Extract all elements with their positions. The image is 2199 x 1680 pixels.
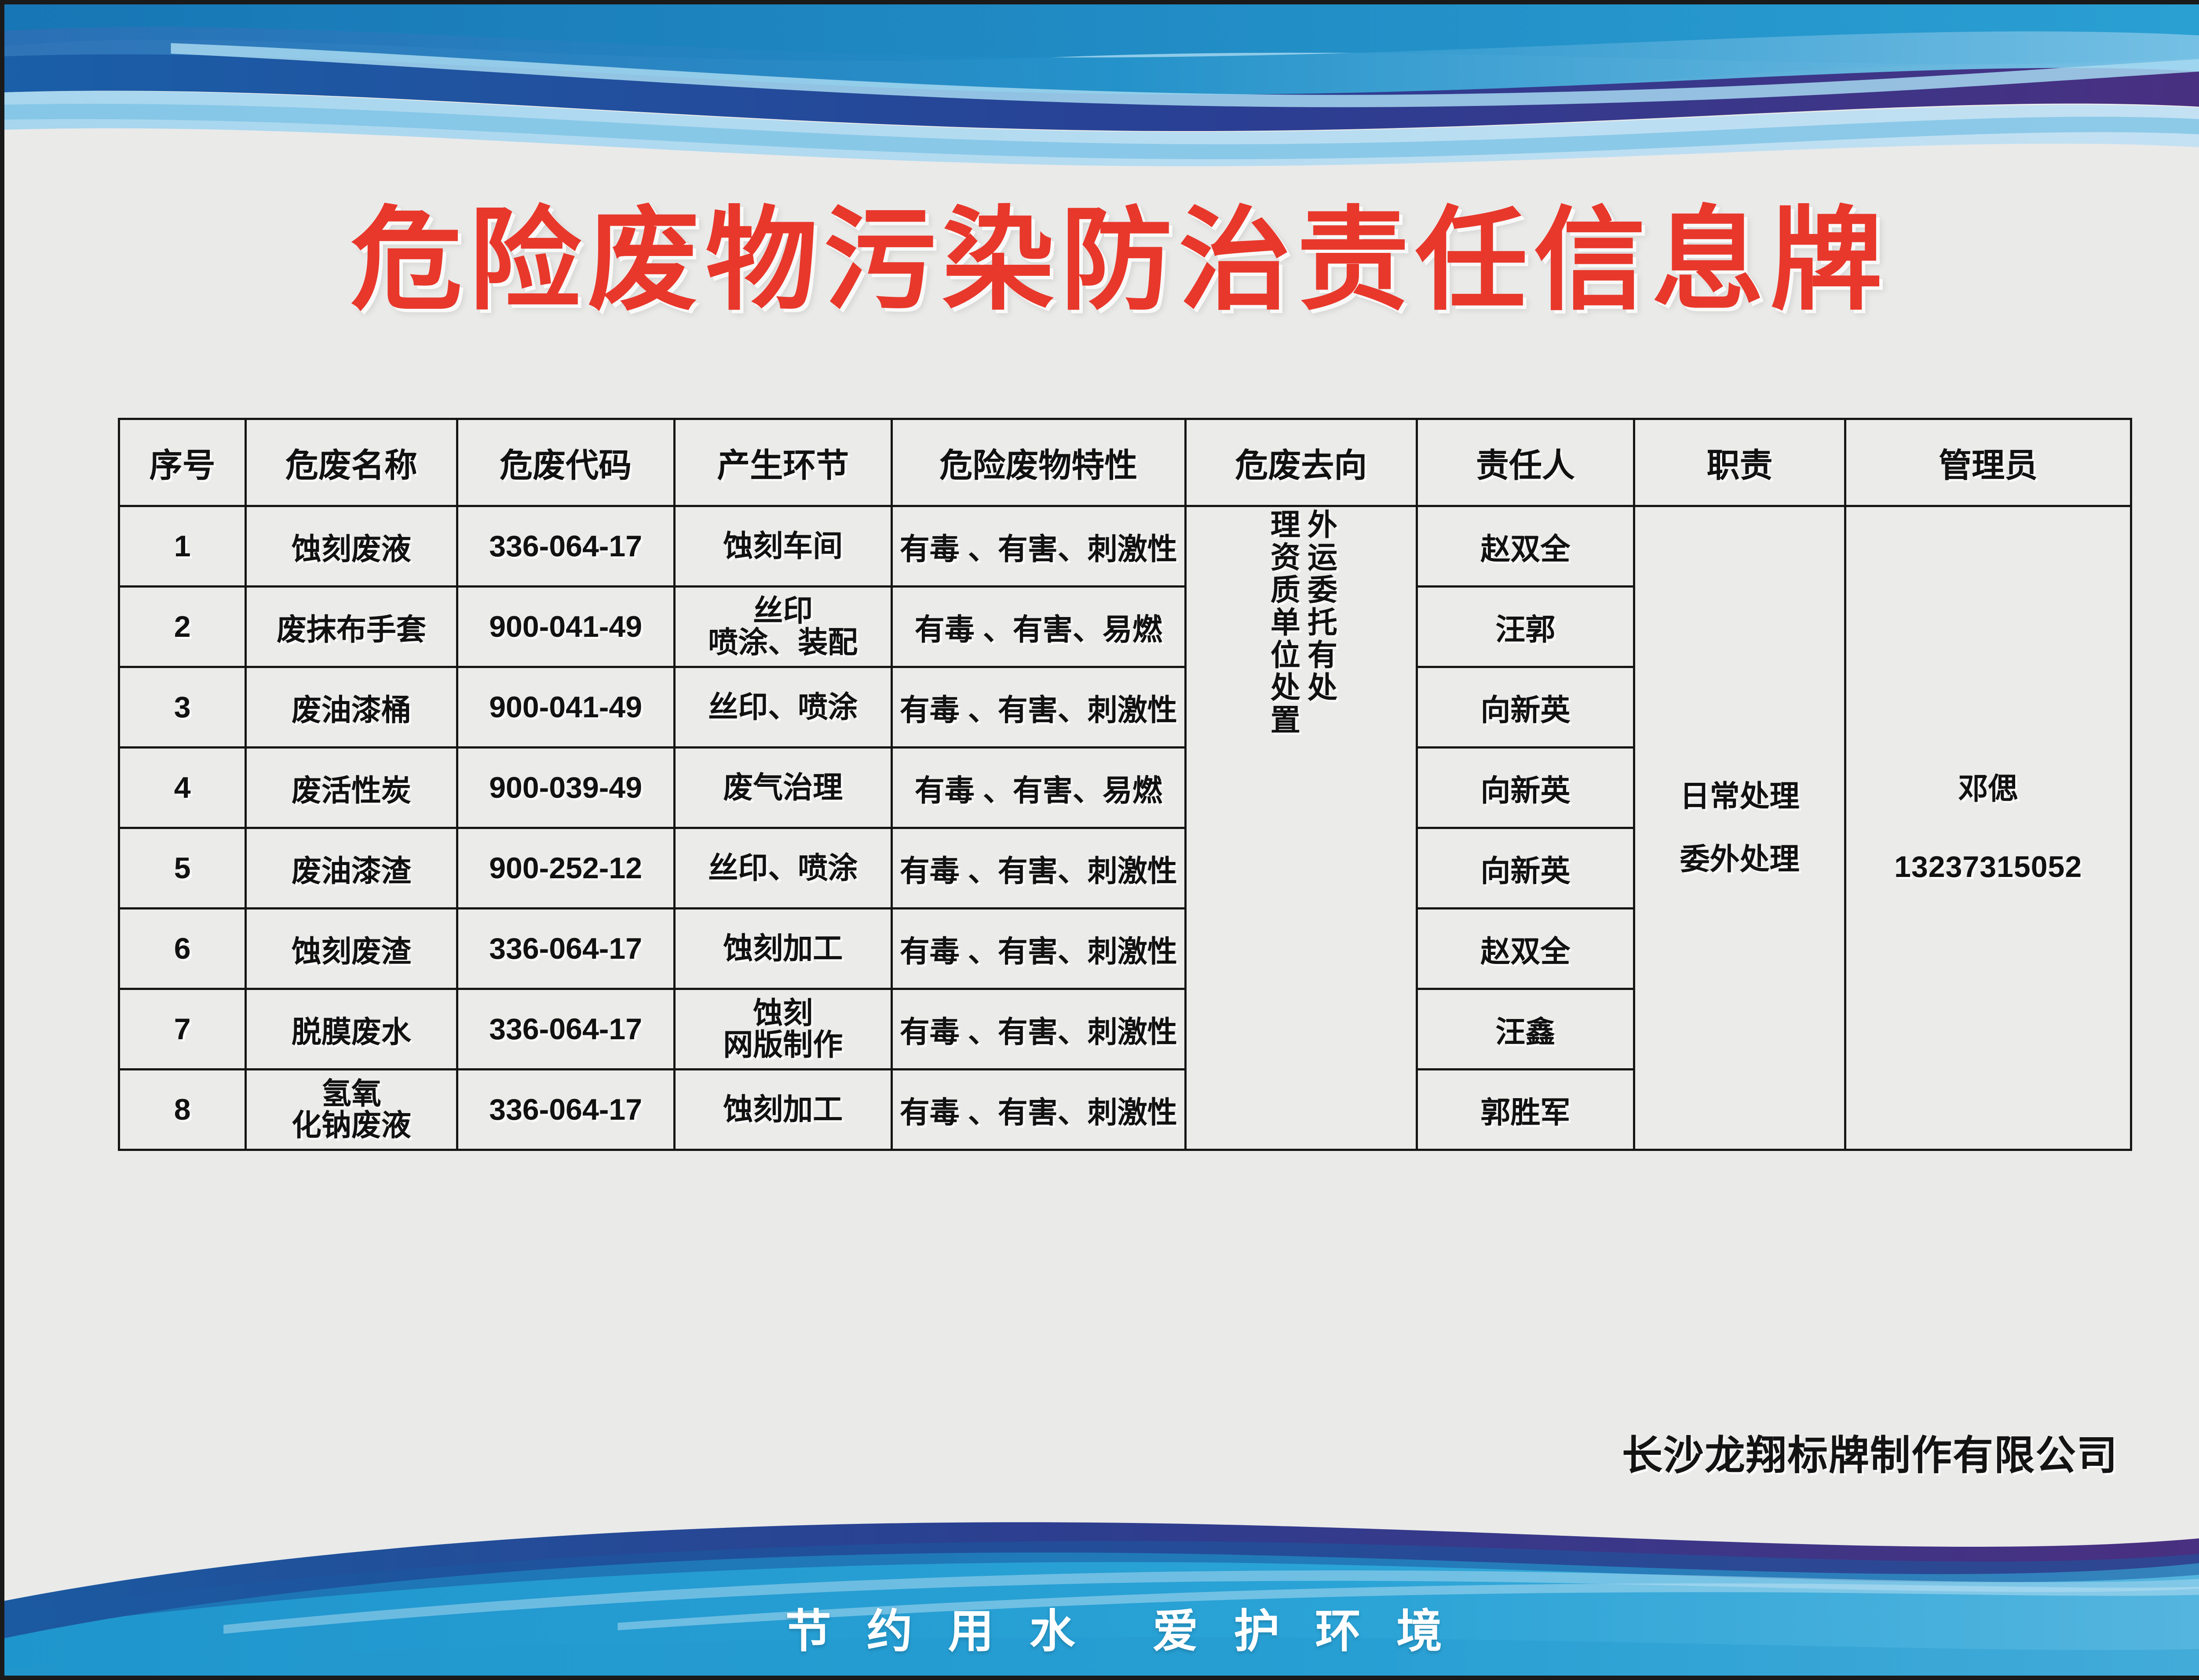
cell-stage: 蚀刻车间 [674,506,891,587]
stage-line: 废气治理 [678,772,888,803]
cell-stage: 废气治理 [674,748,891,828]
cell-person: 向新英 [1417,828,1634,909]
cell-no: 2 [119,587,246,667]
stage-line: 丝印、喷涂 [678,691,888,723]
cell-props: 有毒 、有害、刺激性 [891,506,1185,587]
company-name: 长沙龙翔标牌制作有限公司 [1622,1423,2118,1481]
stage-line: 丝印 [678,595,888,627]
cell-no: 1 [119,506,246,587]
col-header-stage: 产生环节 [674,419,891,506]
col-header-manager: 管理员 [1845,419,2131,506]
cell-destination: 外运委托有处 理资质单位处置 [1185,506,1417,1150]
cell-props: 有毒 、有害、刺激性 [891,909,1185,989]
cell-props: 有毒 、有害、易燃 [891,587,1185,667]
cell-no: 5 [119,828,246,909]
cell-person: 郭胜军 [1417,1070,1634,1150]
manager-phone: 13237315052 [1849,828,2127,906]
col-header-props: 危险废物特性 [891,419,1185,506]
col-header-dest: 危废去向 [1185,419,1417,506]
cell-code: 900-041-49 [457,587,674,667]
top-decorative-banner [4,4,2199,167]
col-header-person: 责任人 [1417,419,1634,506]
cell-no: 3 [119,667,246,748]
cell-code: 900-041-49 [457,667,674,748]
stage-line: 喷涂、装配 [678,627,888,658]
cell-person: 向新英 [1417,667,1634,748]
stage-line: 蚀刻加工 [678,933,888,964]
cell-no: 7 [119,989,246,1070]
cell-code: 900-252-12 [457,828,674,909]
cell-props: 有毒 、有害、刺激性 [891,989,1185,1070]
cell-person: 向新英 [1417,748,1634,828]
cell-person: 赵双全 [1417,506,1634,587]
cell-props: 有毒 、有害、刺激性 [891,828,1185,909]
slogan-save-water: 节 约 用 水 [785,1606,1087,1657]
stage-line: 蚀刻 [678,997,888,1029]
duty-line-1: 日常处理 [1638,765,1841,828]
table-row: 1 蚀刻废液 336-064-17 蚀刻车间 有毒 、有害、刺激性 外运委托有处… [119,506,2131,587]
cell-no: 6 [119,909,246,989]
cell-name: 蚀刻废液 [246,506,457,587]
col-header-duty: 职责 [1634,419,1845,506]
cell-no: 4 [119,748,246,828]
cell-props: 有毒 、有害、易燃 [891,748,1185,828]
cell-duty: 日常处理 委外处理 [1634,506,1845,1150]
cell-manager: 邓偲 13237315052 [1845,506,2131,1150]
stage-line: 蚀刻加工 [678,1094,888,1125]
cell-name: 废油漆渣 [246,828,457,909]
cell-person: 赵双全 [1417,909,1634,989]
duty-line-2: 委外处理 [1638,828,1841,891]
cell-name: 蚀刻废渣 [246,909,457,989]
cell-code: 336-064-17 [457,1070,674,1150]
cell-code: 336-064-17 [457,909,674,989]
cell-stage: 丝印、喷涂 [674,667,891,748]
table-body: 1 蚀刻废液 336-064-17 蚀刻车间 有毒 、有害、刺激性 外运委托有处… [119,506,2131,1150]
cell-person: 汪鑫 [1417,989,1634,1070]
cell-name: 废抹布手套 [246,587,457,667]
destination-column-left: 理资质单位处置 [1265,509,1300,737]
cell-code: 336-064-17 [457,989,674,1070]
stage-line: 网版制作 [678,1029,888,1061]
cell-props: 有毒 、有害、刺激性 [891,667,1185,748]
cell-name: 氢氧 化钠废液 [246,1070,457,1150]
col-header-code: 危废代码 [457,419,674,506]
information-board: 危险废物污染防治责任信息牌 序号 危废名称 危废代码 产生环节 [0,0,2199,1680]
cell-stage: 蚀刻 网版制作 [674,989,891,1070]
cell-person: 汪郭 [1417,587,1634,667]
cell-code: 336-064-17 [457,506,674,587]
cell-no: 8 [119,1070,246,1150]
cell-props: 有毒 、有害、刺激性 [891,1070,1185,1150]
hazardous-waste-table: 序号 危废名称 危废代码 产生环节 危险废物特性 危废去向 责任人 职责 管理员… [118,418,2132,1151]
top-banner-waves [4,4,2199,167]
page-title: 危险废物污染防治责任信息牌 [4,205,2199,317]
hazardous-waste-table-wrapper: 序号 危废名称 危废代码 产生环节 危险废物特性 危废去向 责任人 职责 管理员… [118,418,2132,1151]
cell-stage: 蚀刻加工 [674,909,891,989]
bottom-decorative-banner: 节 约 用 水爱 护 环 境 [4,1493,2199,1676]
destination-vertical-text: 外运委托有处 理资质单位处置 [1189,509,1413,1147]
stage-line: 蚀刻车间 [678,530,888,562]
manager-name: 邓偲 [1849,750,2127,828]
slogan-protect-environment: 爱 护 环 境 [1153,1606,1454,1657]
cell-code: 900-039-49 [457,748,674,828]
cell-stage: 丝印 喷涂、装配 [674,587,891,667]
cell-stage: 蚀刻加工 [674,1070,891,1150]
col-header-no: 序号 [119,419,246,506]
stage-line: 丝印、喷涂 [678,852,888,884]
cell-stage: 丝印、喷涂 [674,828,891,909]
table-header-row: 序号 危废名称 危废代码 产生环节 危险废物特性 危废去向 责任人 职责 管理员 [119,419,2131,506]
destination-column-right: 外运委托有处 [1302,509,1337,704]
cell-name: 废油漆桶 [246,667,457,748]
cell-name: 废活性炭 [246,748,457,828]
environment-slogan: 节 约 用 水爱 护 环 境 [4,1594,2199,1660]
col-header-name: 危废名称 [246,419,457,506]
cell-name: 脱膜废水 [246,989,457,1070]
